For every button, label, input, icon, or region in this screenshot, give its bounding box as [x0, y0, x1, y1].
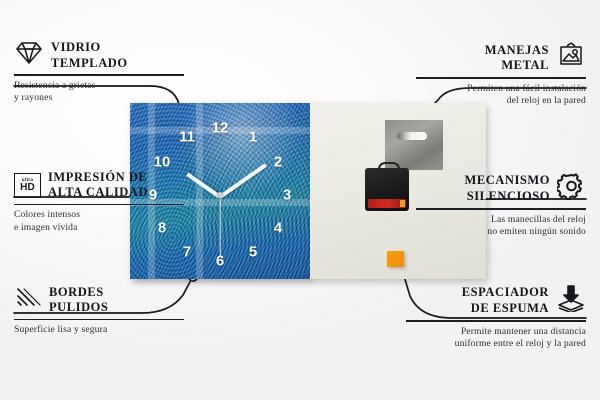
- feature-title-line1: MANEJAS: [485, 43, 549, 58]
- feature-espaciador-de-espuma[interactable]: ESPACIADOR DE ESPUMA Permite mantener un…: [406, 284, 586, 351]
- ultra-hd-badge-main: HD: [20, 183, 35, 193]
- feature-divider: [416, 77, 586, 79]
- polished-edges-icon: [14, 286, 42, 315]
- foam-spacer-arrow-icon: [556, 284, 586, 317]
- clock-numeral-11: 11: [179, 129, 195, 146]
- feature-title-line2: PULIDOS: [49, 300, 108, 315]
- clock-hand-pivot: [217, 192, 223, 198]
- feature-divider: [14, 319, 184, 321]
- feature-mecanismo-silencioso[interactable]: MECANISMO SILENCIOSO Las manecillas del …: [416, 172, 586, 239]
- ultra-hd-badge-icon: ultra HD: [14, 173, 41, 198]
- clock-hand-second: [219, 196, 220, 256]
- feature-divider: [14, 204, 184, 206]
- feature-impresion-alta-calidad[interactable]: ultra HD IMPRESIÓN DE ALTA CALIDAD Color…: [14, 170, 184, 235]
- hanger-slot: [397, 132, 427, 140]
- battery-terminal: [400, 200, 405, 207]
- feature-bordes-pulidos[interactable]: BORDES PULIDOS Superficie lisa y segura: [14, 285, 184, 337]
- infographic-canvas: 12 1 2 3 4 5 6 7 8 9 10 11: [0, 0, 600, 400]
- clock-numeral-7: 7: [183, 244, 191, 261]
- feature-subtitle-line2: uniforme entre el reloj y la pared: [406, 338, 586, 351]
- mechanism-hanging-loop: [378, 162, 400, 173]
- feature-subtitle-line1: Superficie lisa y segura: [14, 324, 184, 337]
- feature-title-line2: ALTA CALIDAD: [48, 185, 148, 200]
- clock-numeral-12: 12: [212, 120, 229, 137]
- feature-title-line1: BORDES: [49, 285, 108, 300]
- feature-subtitle-line2: del reloj en la pared: [416, 95, 586, 108]
- gear-icon: [557, 172, 586, 205]
- wall-frame-hanger-icon: [556, 42, 586, 74]
- feature-title-line2: SILENCIOSO: [464, 189, 550, 204]
- feature-subtitle-line1: Las manecillas del reloj: [416, 214, 586, 227]
- feature-title-line1: VIDRIO: [51, 40, 128, 55]
- feature-subtitle-line1: Colores intensos: [14, 209, 184, 222]
- clock-numeral-4: 4: [274, 220, 282, 237]
- feature-title-line2: DE ESPUMA: [462, 301, 549, 316]
- feature-subtitle-line1: Permite mantener una distancia: [406, 326, 586, 339]
- feature-title-line1: IMPRESIÓN DE: [48, 170, 148, 185]
- feature-manejas-metal[interactable]: MANEJAS METAL Permiten una fácil instala…: [416, 42, 586, 108]
- feature-title-line1: ESPACIADOR: [462, 285, 549, 300]
- silent-quartz-mechanism: [365, 168, 409, 211]
- feature-vidrio-templado[interactable]: VIDRIO TEMPLADO Resistencia a grietas y …: [14, 40, 184, 105]
- feature-divider: [416, 208, 586, 210]
- feature-subtitle-line2: no emiten ningún sonido: [416, 226, 586, 239]
- feature-divider: [406, 320, 586, 322]
- feature-title-line2: TEMPLADO: [51, 56, 128, 71]
- feature-divider: [14, 74, 184, 76]
- clock-numeral-5: 5: [249, 244, 257, 261]
- clock-numeral-1: 1: [249, 129, 257, 146]
- clock-numeral-10: 10: [154, 154, 171, 171]
- clock-numeral-2: 2: [274, 154, 282, 171]
- battery: [368, 199, 406, 208]
- feature-subtitle-line2: e imagen vívida: [14, 222, 184, 235]
- diamond-icon: [14, 40, 44, 71]
- feature-title-line1: MECANISMO: [464, 173, 550, 188]
- foam-spacer: [387, 251, 404, 267]
- feature-subtitle-line1: Resistencia a grietas: [14, 80, 184, 93]
- feature-subtitle-line2: y rayones: [14, 92, 184, 105]
- feature-title-line2: METAL: [485, 58, 549, 73]
- feature-subtitle-line1: Permiten una fácil instalación: [416, 83, 586, 96]
- clock-numeral-3: 3: [283, 187, 291, 204]
